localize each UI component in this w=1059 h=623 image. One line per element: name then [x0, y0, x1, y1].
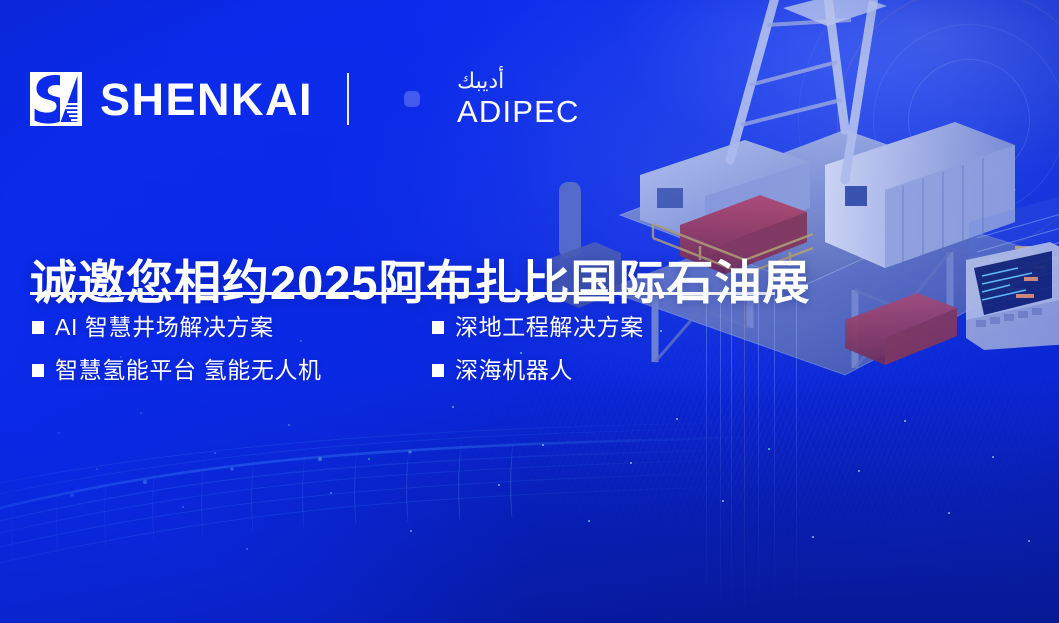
- list-item: AI 智慧井场解决方案: [32, 313, 432, 342]
- list-item: 深海机器人: [432, 356, 732, 385]
- shenkai-wordmark: SHENKAI: [100, 77, 313, 122]
- feature-label: 深海机器人: [455, 356, 573, 385]
- adipec-logo[interactable]: أديبك ADIPEC: [381, 68, 580, 130]
- square-bullet-icon: [32, 321, 44, 334]
- square-bullet-icon: [432, 321, 444, 334]
- page-title: 诚邀您相约2025阿布扎比国际石油展: [30, 256, 811, 310]
- headline-divider: [30, 292, 775, 295]
- feature-label: AI 智慧井场解决方案: [55, 313, 274, 342]
- feature-list: AI 智慧井场解决方案 深地工程解决方案 智慧氢能平台 氢能无人机 深海机器人: [32, 313, 732, 385]
- shenkai-s-mark-icon: [30, 72, 82, 126]
- adipec-latin-name: ADIPEC: [457, 96, 580, 127]
- feature-label: 深地工程解决方案: [455, 313, 644, 342]
- vertical-divider-icon: [347, 73, 349, 125]
- square-bullet-icon: [432, 364, 444, 377]
- adipec-arabic-name: أديبك: [457, 71, 504, 93]
- feature-label: 智慧氢能平台 氢能无人机: [55, 356, 322, 385]
- logo-bar: SHENKAI: [30, 68, 580, 130]
- list-item: 深地工程解决方案: [432, 313, 732, 342]
- shenkai-logo[interactable]: SHENKAI: [30, 72, 313, 126]
- list-item: 智慧氢能平台 氢能无人机: [32, 356, 432, 385]
- adipec-radial-burst-icon: [381, 68, 443, 130]
- square-bullet-icon: [32, 364, 44, 377]
- promotional-banner: SHENKAI: [0, 0, 1059, 623]
